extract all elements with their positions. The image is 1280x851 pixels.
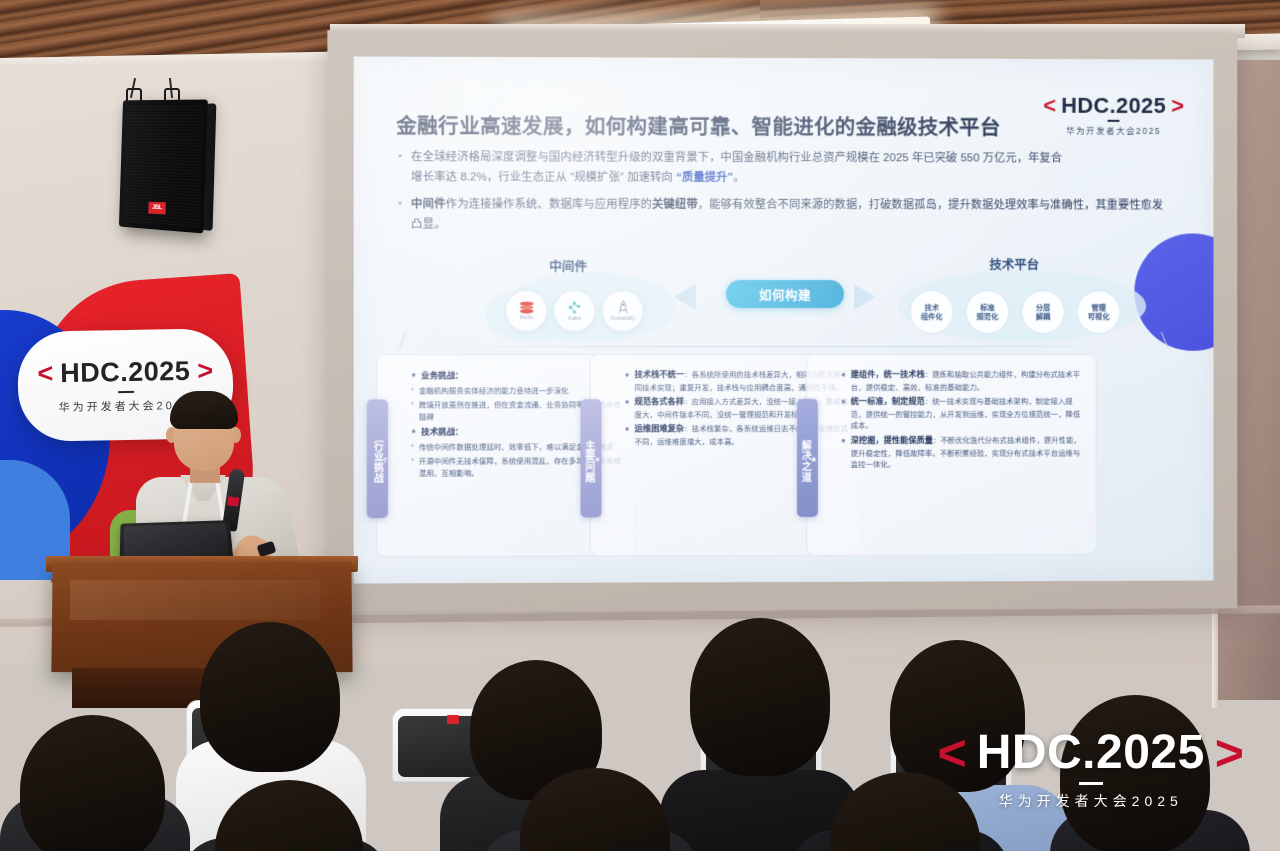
audience-head [20,715,165,851]
platform-node-1-line1: 技术 [924,303,939,312]
mic-logo-icon [227,496,239,506]
diagram-left-label: 中间件 [549,256,587,275]
slide-header: 金融行业高速发展，如何构建高可靠、智能进化的金融级技术平台 < HDC.2025… [396,109,1184,141]
panel-1-item-1-text: 金融机构服务实体经济的能力亟待进一步深化 [419,385,569,397]
panel-2-tab-label: 主要问题 [582,441,594,484]
panel-3-item-2: ●深挖掘，提性能保质量：不断优化迭代分布式技术组件，提升性能，提升稳定性，降低故… [841,434,1087,470]
panel-3-item-2-text: 深挖掘，提性能保质量：不断优化迭代分布式技术组件，提升性能，提升稳定性，降低故障… [851,434,1087,470]
slide-bullet-1: • 在全球经济格局深度调整与国内经济转型升级的双重背景下，中国金融机构行业总资产… [398,147,1170,189]
jbl-logo: JBL [148,202,166,215]
presenter-hair [170,391,238,429]
question-mark-icon: ? [382,456,388,465]
panel-3-item-1: ●统一标准，制定规范：统一技术实现与基础技术架构，制定接入规范，提供统一的管控能… [841,396,1087,432]
kafka-label: Kafka [568,315,581,321]
bullet-dot-icon: ● [625,424,630,448]
kafka-glyph-icon [567,300,581,314]
redis-icon: Redis [505,290,547,332]
bullet-dot-icon: ● [841,369,846,393]
panel-3-body: ●建组件，统一技术栈：提炼和抽取公共能力组件，构建分布式技术平台，提供稳定、高效… [841,369,1087,547]
slide-bracket-left-icon: < [1043,95,1056,117]
panel-2-tab: ☀ 主要问题 [580,399,601,517]
watermark-underline [1079,782,1103,785]
slide-logo-title: HDC.2025 [1061,93,1166,119]
slide-hdc-logo: < HDC.2025 > 华为开发者大会2025 [1043,93,1183,137]
slide-bracket-right-icon: > [1171,95,1184,117]
platform-node-4: 管理 可视化 [1077,290,1121,334]
sub-bullet-icon: ▪ [411,385,414,397]
panel-1-item-0-text: 业务挑战： [421,369,463,382]
diagram-base-line [416,346,1146,347]
bullet-dot-icon: ● [625,369,630,393]
standee-underline [118,390,134,392]
platform-node-2-line1: 标准 [980,303,995,312]
panel-3-tab: ★ 解决之道 [797,399,818,517]
rocketmq-label: RocketMQ [611,316,635,322]
standee-bracket-right-icon: > [197,357,213,384]
bullet-dot-icon: ● [411,426,416,439]
slide-diagram: 中间件 技术平台 Redis [396,254,1166,352]
panel-3-tab-label: 解决之道 [798,440,810,482]
projection-screen: 金融行业高速发展，如何构建高可靠、智能进化的金融级技术平台 < HDC.2025… [327,30,1237,611]
rocketmq-icon: RocketMQ [602,290,644,332]
slide-logo-subtitle: 华为开发者大会2025 [1066,124,1161,136]
presentation-slide: 金融行业高速发展，如何构建高可靠、智能进化的金融级技术平台 < HDC.2025… [354,57,1214,584]
arrow-right-icon [854,284,876,310]
platform-node-1-line2: 组件化 [921,312,943,321]
standee-logo-row: < HDC.2025 > [37,355,213,389]
bullet-2-text: 中间件作为连接操作系统、数据库与应用程序的关键纽带，能够有效整合不同来源的数据，… [411,195,1170,236]
bullet-dot-icon: ● [625,396,630,420]
platform-node-3-line1: 分层 [1036,303,1050,312]
watermark-title: HDC.2025 [977,725,1205,780]
panel-1-item-3-text: 技术挑战： [421,425,463,438]
slide-title: 金融行业高速发展，如何构建高可靠、智能进化的金融级技术平台 [396,109,1000,141]
redis-glyph-icon [519,301,534,314]
platform-node-1: 技术 组件化 [910,290,954,334]
huawei-logo-icon [447,715,459,724]
platform-node-3: 分层 解耦 [1021,290,1065,334]
bullet-1-text: 在全球经济格局深度调整与国内经济转型升级的双重背景下，中国金融机构行业总资产规模… [411,147,1062,189]
panel-solutions: ★ 解决之道 ●建组件，统一技术栈：提炼和抽取公共能力组件，构建分布式技术平台，… [806,354,1097,556]
watermark-logo-row: < HDC.2025 > [937,725,1244,780]
watermark-subtitle: 华为开发者大会2025 [999,791,1183,811]
panel-1-tab: ? 行业挑战 [367,399,388,518]
panel-3-item-0-text: 建组件，统一技术栈：提炼和抽取公共能力组件，构建分布式技术平台，提供稳定、高效、… [851,369,1087,393]
hanging-speaker: JBL [108,92,238,242]
kafka-icon: Kafka [553,290,595,332]
standee-bracket-left-icon: < [37,360,53,387]
diagram-cta-pill: 如何构建 [726,280,844,308]
platform-node-2-line2: 规范化 [977,312,999,321]
rocketmq-glyph-icon [617,300,628,315]
bullet-marker-icon: • [398,195,402,235]
platform-node-3-line2: 解耦 [1036,312,1050,321]
bullet-dot-icon: ● [841,435,846,471]
audience-head [690,618,830,776]
platform-node-4-line2: 可视化 [1088,312,1110,321]
sub-bullet-icon: ▪ [411,456,414,479]
standee-logo-title: HDC.2025 [60,355,191,388]
star-icon: ★ [810,455,818,464]
watermark-logo: < HDC.2025 > 华为开发者大会2025 [937,725,1244,811]
panel-3-item-1-text: 统一标准，制定规范：统一技术实现与基础技术架构，制定接入规范，提供统一的管控能力… [851,396,1087,432]
watermark-bracket-left-icon: < [937,728,966,778]
arrow-left-icon [674,284,696,310]
sun-icon: ☀ [594,456,602,465]
platform-node-4-line1: 管理 [1091,303,1105,312]
conference-photo: JBL < HDC.2025 > 华为开发者大会2025 金融行业高速发展，如何… [0,0,1280,851]
slide-logo-underline [1108,120,1120,122]
watermark-bracket-right-icon: > [1215,728,1244,778]
audience-head [200,622,340,772]
bullet-marker-icon: • [398,147,402,187]
redis-label: Redis [520,315,533,321]
bullet-dot-icon: ● [411,369,416,382]
slide-bullet-list: • 在全球经济格局深度调整与国内经济转型升级的双重背景下，中国金融机构行业总资产… [398,147,1170,243]
sub-bullet-icon: ▪ [411,399,414,422]
bullet-dot-icon: ● [841,396,846,432]
sub-bullet-icon: ▪ [411,441,414,453]
panel-1-tab-label: 行业挑战 [371,441,383,484]
slide-logo-row: < HDC.2025 > [1043,93,1183,119]
slide-bullet-2: • 中间件作为连接操作系统、数据库与应用程序的关键纽带，能够有效整合不同来源的数… [398,195,1170,236]
slide-panels: ? 行业挑战 ●业务挑战： ▪金融机构服务实体经济的能力亟待进一步深化 ▪跨境开… [376,354,1196,565]
panel-3-item-0: ●建组件，统一技术栈：提炼和抽取公共能力组件，构建分布式技术平台，提供稳定、高效… [841,369,1087,393]
platform-node-2: 标准 规范化 [966,290,1010,334]
diagram-right-label: 技术平台 [989,254,1039,273]
